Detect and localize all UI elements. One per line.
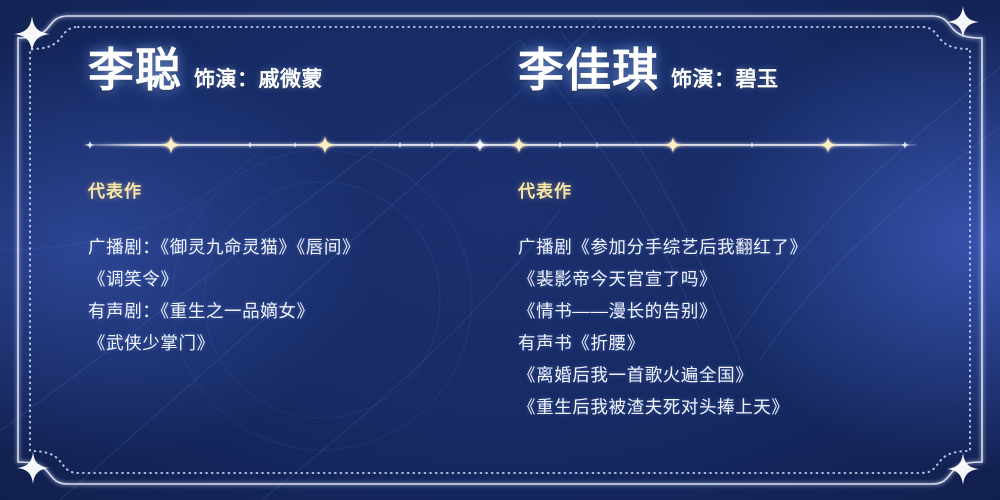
- work-line: 广播剧《参加分手综艺后我翻红了》: [518, 231, 808, 263]
- work-line: 《武侠少掌门》: [88, 327, 360, 359]
- work-line: 《离婚后我一首歌火遍全国》: [518, 359, 808, 391]
- works-heading: 代表作: [88, 177, 142, 202]
- work-line: 《裴影帝今天官宣了吗》: [518, 263, 808, 295]
- card-content: 李聪 饰演：戚微蒙 代表作 广播剧：《御灵九命灵猫》《唇间》 《调笑令》 有声剧…: [0, 0, 1000, 500]
- work-line: 《情书——漫长的告别》: [518, 295, 808, 327]
- works-heading: 代表作: [518, 177, 572, 202]
- work-line: 广播剧：《御灵九命灵猫》《唇间》: [88, 231, 360, 263]
- role-label: 饰演：碧玉: [671, 69, 779, 90]
- works-list: 广播剧《参加分手综艺后我翻红了》 《裴影帝今天官宣了吗》 《情书——漫长的告别》…: [518, 231, 808, 423]
- cast-name-row: 李聪 饰演：戚微蒙: [88, 48, 323, 94]
- work-line: 有声剧：《重生之一品嫡女》: [88, 295, 360, 327]
- role-label: 饰演：戚微蒙: [194, 69, 323, 90]
- work-line: 有声书《折腰》: [518, 327, 808, 359]
- work-line: 《调笑令》: [88, 263, 360, 295]
- cast-introduction-card: 李聪 饰演：戚微蒙 代表作 广播剧：《御灵九命灵猫》《唇间》 《调笑令》 有声剧…: [0, 0, 1000, 500]
- actor-name: 李佳琪: [518, 48, 659, 94]
- works-list: 广播剧：《御灵九命灵猫》《唇间》 《调笑令》 有声剧：《重生之一品嫡女》 《武侠…: [88, 231, 360, 359]
- cast-name-row: 李佳琪 饰演：碧玉: [518, 48, 779, 94]
- actor-name: 李聪: [88, 48, 182, 94]
- work-line: 《重生后我被渣夫死对头捧上天》: [518, 391, 808, 423]
